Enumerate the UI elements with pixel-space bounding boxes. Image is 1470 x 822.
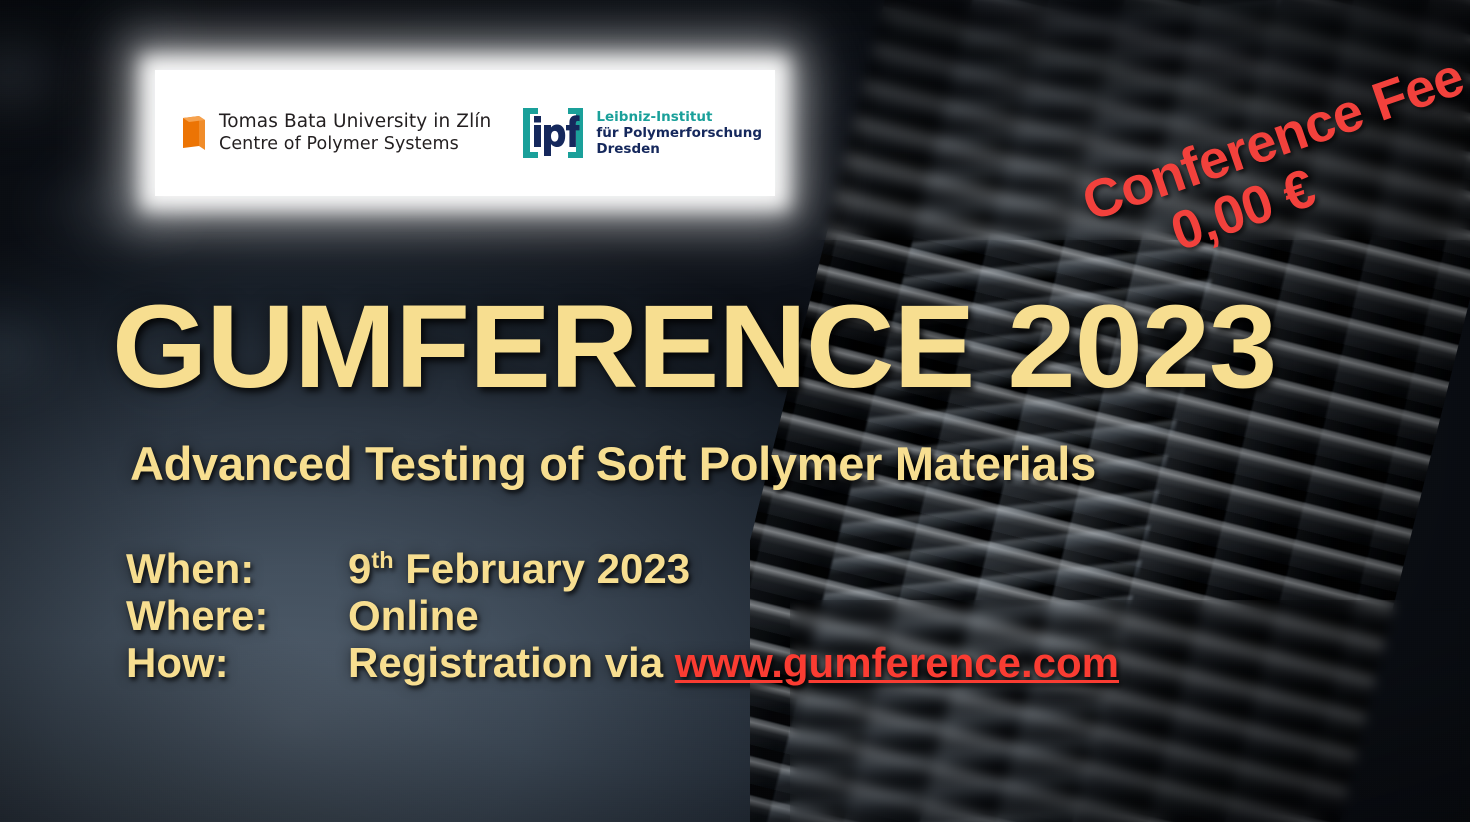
- how-label: How:: [126, 639, 348, 686]
- page-title: GUMFERENCE 2023: [112, 288, 1276, 406]
- page-subtitle: Advanced Testing of Soft Polymer Materia…: [130, 440, 1096, 487]
- registration-url-link[interactable]: www.gumference.com: [675, 639, 1119, 686]
- when-day: 9: [348, 545, 371, 592]
- ipf-leibniz-logo: Leibniz-Institut für Polymerforschung Dr…: [521, 106, 762, 160]
- detail-row-where: Where: Online: [126, 592, 1119, 639]
- how-value: Registration via www.gumference.com: [348, 639, 1119, 686]
- where-label: Where:: [126, 592, 348, 639]
- orange-book-icon: [181, 116, 207, 150]
- where-value: Online: [348, 592, 479, 639]
- when-label: When:: [126, 545, 348, 592]
- tomas-bata-university-text: Tomas Bata University in Zlín Centre of …: [219, 111, 491, 155]
- tbu-line-2: Centre of Polymer Systems: [219, 134, 491, 155]
- ipf-line-2: für Polymerforschung: [596, 125, 762, 141]
- conference-poster: Tomas Bata University in Zlín Centre of …: [0, 0, 1470, 822]
- ipf-line-3: Dresden: [596, 141, 762, 157]
- ipf-institute-text: Leibniz-Institut für Polymerforschung Dr…: [596, 109, 762, 158]
- logo-bar: Tomas Bata University in Zlín Centre of …: [155, 70, 775, 196]
- ipf-line-1: Leibniz-Institut: [596, 109, 762, 125]
- detail-row-how: How: Registration via www.gumference.com: [126, 639, 1119, 686]
- how-value-prefix: Registration via: [348, 639, 675, 686]
- when-day-ordinal-suffix: th: [371, 547, 393, 573]
- when-value: 9th February 2023: [348, 545, 690, 592]
- tbu-line-1: Tomas Bata University in Zlín: [219, 111, 491, 134]
- when-month-year: February 2023: [394, 545, 691, 592]
- event-details: When: 9th February 2023 Where: Online Ho…: [126, 545, 1119, 686]
- tomas-bata-university-logo: Tomas Bata University in Zlín Centre of …: [181, 111, 491, 155]
- ipf-bracket-wordmark-icon: [521, 106, 585, 160]
- detail-row-when: When: 9th February 2023: [126, 545, 1119, 592]
